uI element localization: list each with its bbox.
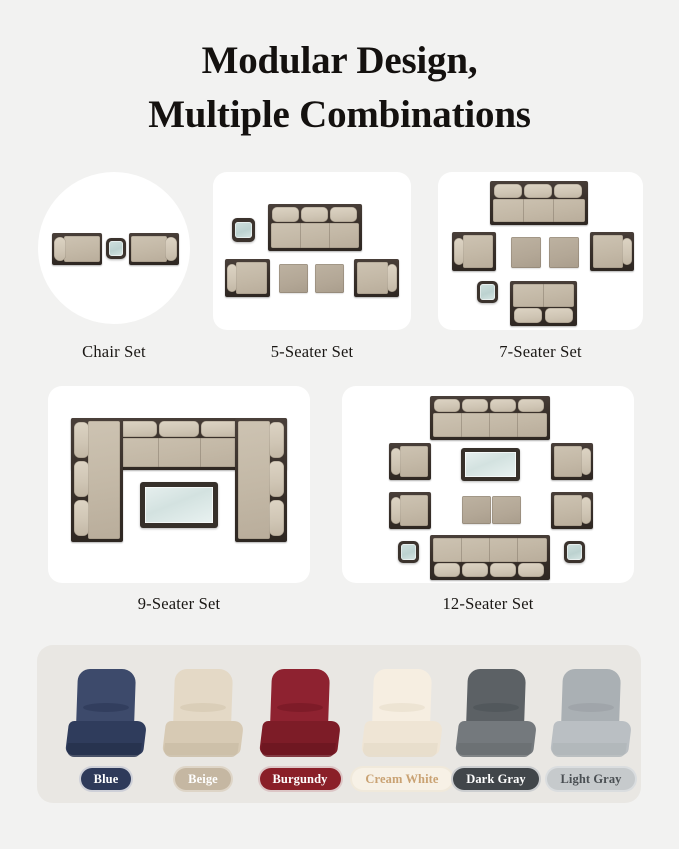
color-swatch-dark-gray[interactable]: Dark Gray <box>441 669 551 790</box>
ottoman-2 <box>549 237 579 268</box>
chair-seat <box>593 235 623 268</box>
chair-right-upper <box>551 443 593 480</box>
cushion-side <box>551 743 627 757</box>
cushion-backrest <box>372 669 432 729</box>
color-swatch-burgundy[interactable]: Burgundy <box>245 669 355 790</box>
color-label-burgundy: Burgundy <box>260 768 341 790</box>
set-caption-7-seater-set: 7-Seater Set <box>438 342 643 362</box>
sectional-left-backrest-3 <box>74 500 89 536</box>
set-caption-9-seater-set: 9-Seater Set <box>48 594 310 614</box>
chair-left-seat <box>64 236 100 262</box>
chair-right-backrest <box>165 237 177 261</box>
chair-backrest <box>454 238 464 265</box>
sofa-backrest-2 <box>462 399 488 412</box>
sofa-three-seat <box>490 181 588 225</box>
cushion-backrest <box>561 669 621 729</box>
coffee-table <box>461 448 520 481</box>
sofa-backrest-4 <box>518 399 544 412</box>
side-table-glass-top <box>401 544 416 559</box>
chair-backrest <box>391 497 401 524</box>
sofa-backrest-3 <box>330 207 357 222</box>
sofa-divider-3 <box>517 538 518 562</box>
cushion-crease <box>568 703 614 712</box>
ottoman-1 <box>462 496 491 524</box>
cushion-backrest <box>173 669 233 729</box>
set-card-chair-set[interactable] <box>38 172 190 324</box>
set-caption-chair-set: Chair Set <box>38 342 190 362</box>
coffee-table <box>140 482 218 528</box>
cushion-preview-blue <box>63 669 149 761</box>
color-swatch-blue[interactable]: Blue <box>51 669 161 790</box>
sectional-right-backrest-2 <box>269 461 284 497</box>
cushion-backrest <box>466 669 526 729</box>
title-line-1: Modular Design, <box>202 39 478 82</box>
color-label-beige: Beige <box>175 768 231 790</box>
sofa-seat-divider-2 <box>329 223 330 248</box>
set-card-5-seater-set[interactable] <box>213 172 411 330</box>
chair-left <box>52 233 102 265</box>
cushion-crease <box>379 703 425 712</box>
chair-right-lower <box>551 492 593 529</box>
color-label-blue: Blue <box>81 768 132 790</box>
page-title: Modular Design, Multiple Combinations <box>0 34 679 142</box>
ottoman-1 <box>511 237 541 268</box>
chair-backrest <box>387 264 397 292</box>
sofa-divider-2 <box>489 538 490 562</box>
sofa-backrest-1 <box>434 399 460 412</box>
set-card-9-seater-set[interactable] <box>48 386 310 583</box>
sectional-divider-3 <box>200 438 201 467</box>
sofa-backrest-4 <box>518 563 544 577</box>
chair-seat <box>554 495 582 526</box>
cushion-side <box>66 743 142 757</box>
chair-backrest <box>581 497 591 524</box>
sofa-backrest-3 <box>490 563 516 577</box>
sofa-divider-1 <box>461 413 462 437</box>
sofa-divider-1 <box>461 538 462 562</box>
cushion-backrest <box>270 669 330 729</box>
side-table-bottom-left <box>398 541 419 563</box>
sectional-right-seat <box>238 421 270 539</box>
cushion-crease <box>277 703 323 712</box>
color-label-light-gray: Light Gray <box>547 768 634 790</box>
cushion-backrest <box>76 669 136 729</box>
sectional-right-backrest-3 <box>269 500 284 536</box>
sectional-divider-2 <box>158 438 159 467</box>
chair-left-upper <box>389 443 431 480</box>
sofa-backrest-1 <box>272 207 299 222</box>
side-table-bottom-right <box>564 541 585 563</box>
sofa-backrest-1 <box>494 184 522 198</box>
side-table-left <box>232 218 255 242</box>
coffee-table-glass-top <box>465 452 517 478</box>
color-label-dark-gray: Dark Gray <box>453 768 539 790</box>
sofa-divider-2 <box>489 413 490 437</box>
chair-seat <box>400 495 428 526</box>
color-label-cream-white: Cream White <box>352 768 451 790</box>
cushion-side <box>362 743 438 757</box>
chair-left <box>452 232 496 271</box>
infographic-page: Modular Design, Multiple Combinations Ch… <box>0 0 679 849</box>
cushion-crease <box>180 703 226 712</box>
color-swatch-beige[interactable]: Beige <box>148 669 258 790</box>
sofa-backrest-2 <box>301 207 328 222</box>
sofa-seat-divider-1 <box>543 284 544 307</box>
side-table-glass-top <box>235 222 251 239</box>
sofa-backrest-1 <box>514 308 542 323</box>
chair-seat <box>554 446 582 477</box>
title-line-2: Multiple Combinations <box>0 88 679 142</box>
cushion-crease <box>473 703 519 712</box>
sofa-seat-divider-1 <box>300 223 301 248</box>
sectional-left-seat <box>88 421 120 539</box>
color-options-panel: Blue Beige Burgundy <box>37 645 641 803</box>
chair-left-lower <box>389 492 431 529</box>
chair-backrest <box>581 448 591 475</box>
sectional-left-column <box>71 418 123 542</box>
sofa-seat <box>433 413 547 437</box>
sectional-right-column <box>235 418 287 542</box>
sectional-backrest-2 <box>117 421 157 437</box>
cushion-side <box>260 743 336 757</box>
side-table-glass-top <box>109 241 123 256</box>
cushion-preview-dark-gray <box>453 669 539 761</box>
chair-bottom-right <box>354 259 399 297</box>
side-table-glass-top <box>567 544 582 559</box>
cushion-preview-cream-white <box>359 669 445 761</box>
color-swatch-light-gray[interactable]: Light Gray <box>536 669 646 790</box>
chair-backrest <box>391 448 401 475</box>
sectional-left-backrest-1 <box>74 422 89 458</box>
chair-right <box>590 232 634 271</box>
set-card-12-seater-set[interactable] <box>342 386 634 583</box>
sectional-right-backrest-1 <box>269 422 284 458</box>
sofa-backrest-2 <box>545 308 573 323</box>
cushion-side <box>163 743 239 757</box>
sofa-backrest-2 <box>524 184 552 198</box>
chair-seat <box>400 446 428 477</box>
chair-backrest <box>227 264 237 292</box>
set-caption-12-seater-set: 12-Seater Set <box>342 594 634 614</box>
chair-backrest <box>622 238 632 265</box>
sofa-two-seat <box>510 281 577 326</box>
ottoman-1 <box>279 264 308 293</box>
sofa-bottom-four-seat <box>430 535 550 580</box>
chair-seat <box>463 235 493 268</box>
sofa-backrest-1 <box>434 563 460 577</box>
sofa-three-seat <box>268 204 362 251</box>
cushion-preview-burgundy <box>257 669 343 761</box>
ottoman-2 <box>492 496 521 524</box>
cushion-preview-beige <box>160 669 246 761</box>
cushion-preview-light-gray <box>548 669 634 761</box>
sofa-seat-divider-2 <box>553 199 554 222</box>
chair-bottom-left <box>225 259 270 297</box>
set-caption-5-seater-set: 5-Seater Set <box>213 342 411 362</box>
chair-right-seat <box>131 236 167 262</box>
chair-seat <box>236 262 267 294</box>
coffee-table-glass-top <box>145 487 214 523</box>
chair-seat <box>357 262 388 294</box>
side-table-bottom-left <box>477 281 498 303</box>
sofa-backrest-3 <box>554 184 582 198</box>
cushion-side <box>456 743 532 757</box>
sofa-backrest-3 <box>490 399 516 412</box>
chair-right <box>129 233 179 265</box>
sofa-seat <box>433 538 547 562</box>
ottoman-2 <box>315 264 344 293</box>
side-table-glass-top <box>480 284 495 299</box>
sofa-seat <box>271 223 359 248</box>
side-table-center <box>106 238 126 259</box>
set-card-7-seater-set[interactable] <box>438 172 643 330</box>
sofa-seat-divider-1 <box>523 199 524 222</box>
sofa-seat <box>493 199 585 222</box>
sectional-left-backrest-2 <box>74 461 89 497</box>
chair-left-backrest <box>54 237 66 261</box>
sofa-backrest-2 <box>462 563 488 577</box>
sectional-backrest-3 <box>159 421 199 437</box>
sofa-top-four-seat <box>430 396 550 440</box>
sofa-divider-3 <box>517 413 518 437</box>
cushion-crease <box>83 703 129 712</box>
